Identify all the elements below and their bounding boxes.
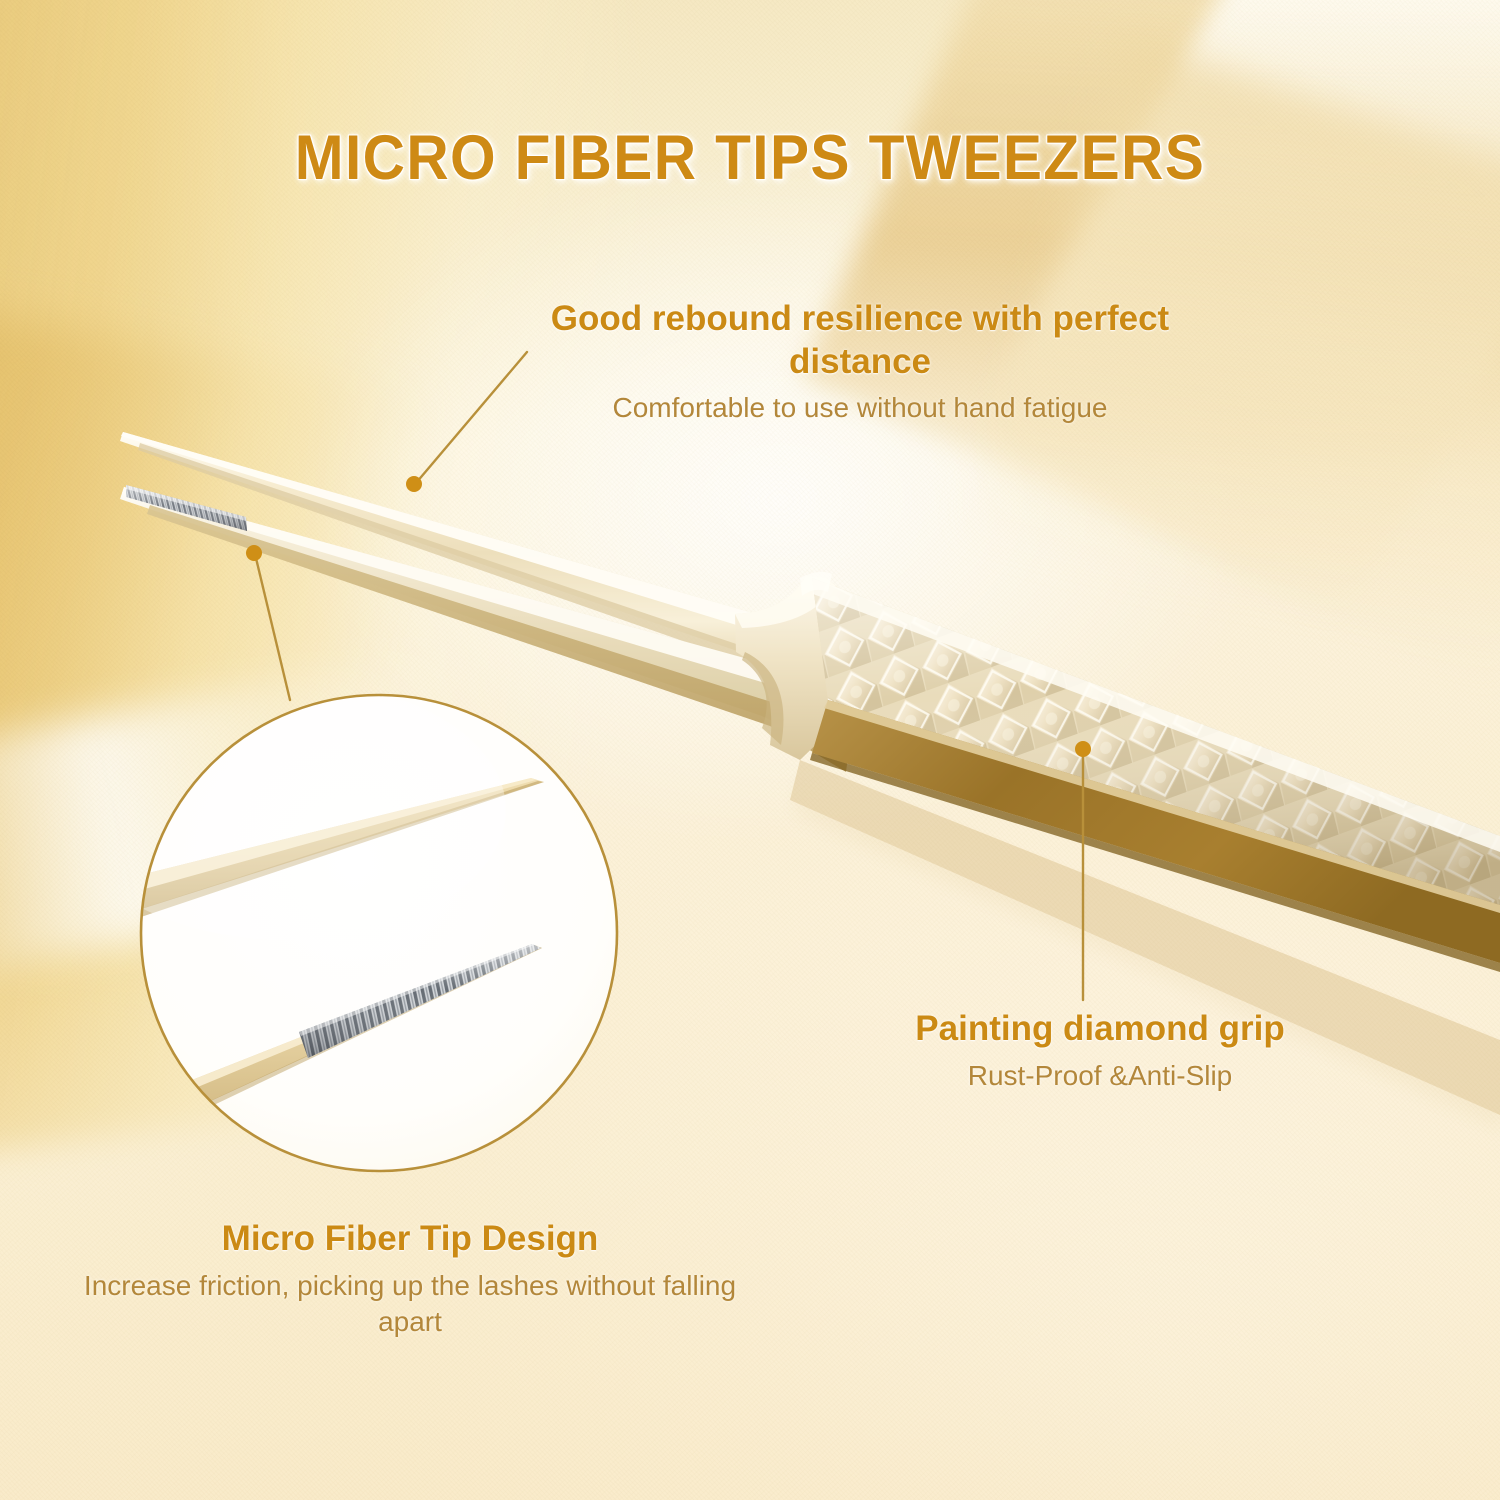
infographic-canvas: MICRO FIBER TIPS TWEEZERS Good rebound r… xyxy=(0,0,1500,1500)
callout-rebound-heading: Good rebound resilience with perfect dis… xyxy=(500,298,1220,383)
callout-tip-subtext: Increase friction, picking up the lashes… xyxy=(60,1268,760,1341)
page-title: MICRO FIBER TIPS TWEEZERS xyxy=(53,122,1448,194)
callout-rebound-subtext: Comfortable to use without hand fatigue xyxy=(500,390,1220,426)
leader-dot-icon xyxy=(246,545,262,561)
callout-grip-heading: Painting diamond grip xyxy=(790,1008,1410,1051)
callout-grip-subtext: Rust-Proof &Anti-Slip xyxy=(790,1058,1410,1094)
leader-micro-fiber-tip xyxy=(246,545,290,700)
callout-rebound: Good rebound resilience with perfect dis… xyxy=(500,298,1220,427)
callout-tip-heading: Micro Fiber Tip Design xyxy=(60,1218,760,1261)
leader-dot-icon xyxy=(1075,741,1091,757)
callout-diamond-grip: Painting diamond grip Rust-Proof &Anti-S… xyxy=(790,1008,1410,1094)
callout-micro-fiber-tip: Micro Fiber Tip Design Increase friction… xyxy=(60,1218,760,1340)
leader-diamond-grip xyxy=(1075,741,1091,1000)
leader-dot-icon xyxy=(406,476,422,492)
